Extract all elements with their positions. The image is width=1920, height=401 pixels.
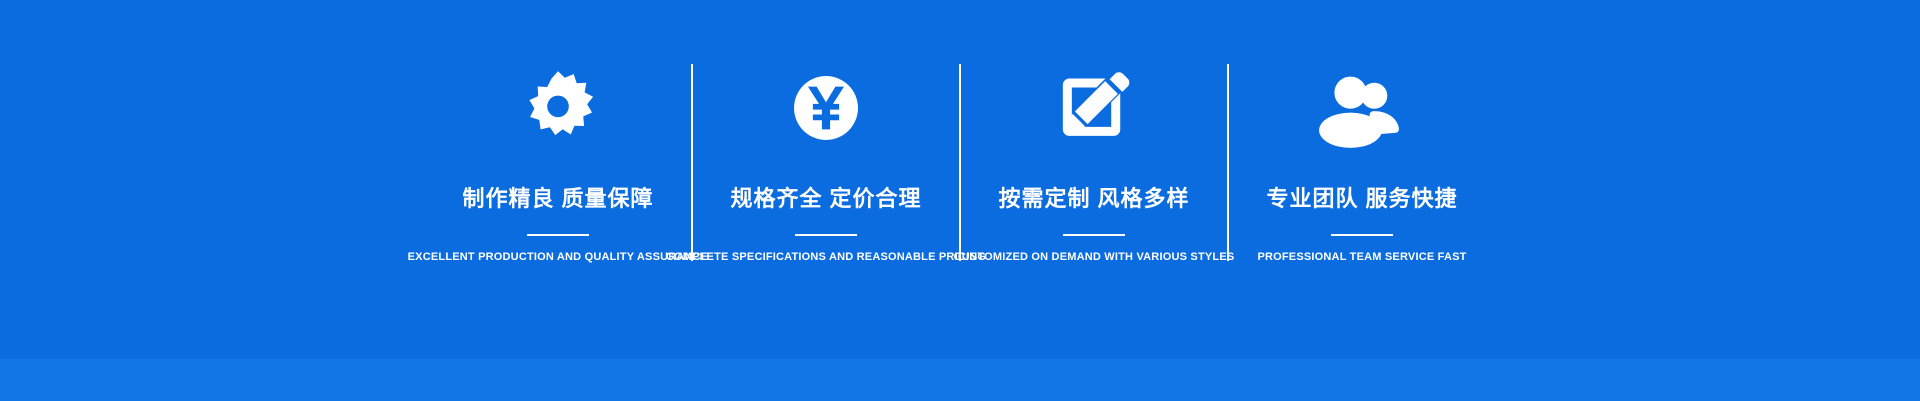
feature-subtitle: EXCELLENT PRODUCTION AND QUALITY ASSURAN… (408, 252, 709, 263)
feature-subtitle: CUSTOMIZED ON DEMAND WITH VARIOUS STYLES (954, 252, 1235, 263)
feature-divider-rule (1331, 234, 1393, 236)
bottom-color-band (0, 359, 1920, 401)
feature-divider-rule (527, 234, 589, 236)
feature-subtitle: PROFESSIONAL TEAM SERVICE FAST (1257, 252, 1466, 263)
pencil-edit-icon (1053, 56, 1135, 160)
feature-item-customization[interactable]: 按需定制 风格多样 CUSTOMIZED ON DEMAND WITH VARI… (960, 0, 1228, 359)
yen-coin-icon (785, 56, 867, 160)
feature-subtitle: COMPLETE SPECIFICATIONS AND REASONABLE P… (666, 252, 986, 263)
feature-divider-rule (1063, 234, 1125, 236)
feature-headline: 制作精良 质量保障 (462, 188, 653, 210)
gear-icon (518, 56, 598, 160)
feature-headline: 专业团队 服务快捷 (1266, 188, 1457, 210)
feature-divider-rule (795, 234, 857, 236)
feature-item-pricing[interactable]: 规格齐全 定价合理 COMPLETE SPECIFICATIONS AND RE… (692, 0, 960, 359)
features-row: 制作精良 质量保障 EXCELLENT PRODUCTION AND QUALI… (0, 0, 1920, 359)
feature-headline: 按需定制 风格多样 (998, 188, 1189, 210)
feature-item-team[interactable]: 专业团队 服务快捷 PROFESSIONAL TEAM SERVICE FAST (1228, 0, 1496, 359)
feature-headline: 规格齐全 定价合理 (730, 188, 921, 210)
two-people-icon (1316, 56, 1408, 160)
features-banner: 制作精良 质量保障 EXCELLENT PRODUCTION AND QUALI… (0, 0, 1920, 401)
feature-item-production[interactable]: 制作精良 质量保障 EXCELLENT PRODUCTION AND QUALI… (424, 0, 692, 359)
